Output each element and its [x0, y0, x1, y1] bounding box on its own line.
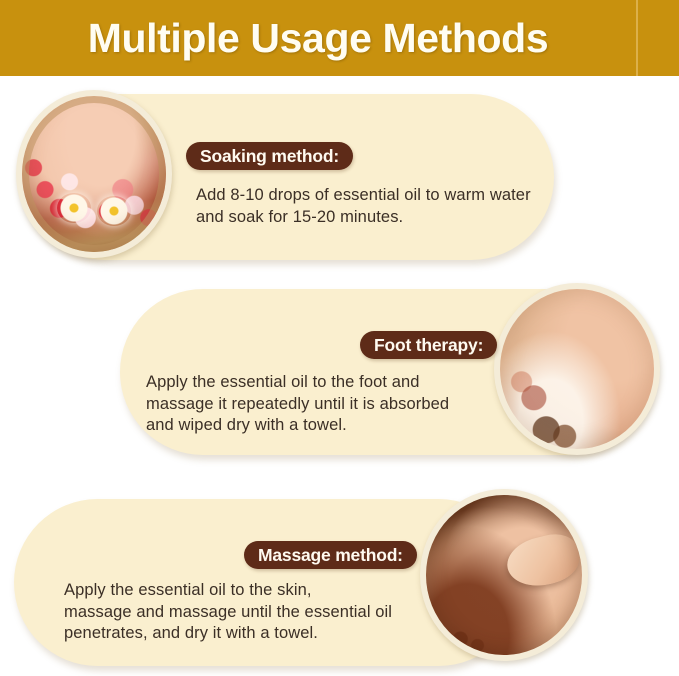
- header-banner: Multiple Usage Methods: [0, 0, 679, 76]
- card-photo-frame: [494, 283, 660, 455]
- method-description-soaking: Add 8-10 drops of essential oil to warm …: [196, 185, 586, 228]
- usage-method-card-soaking: Soaking method: Add 8-10 drops of essent…: [0, 84, 679, 269]
- card-photo-frame: [420, 489, 588, 661]
- card-photo-frame: [16, 90, 172, 258]
- method-label-foot-therapy: Foot therapy:: [360, 331, 497, 359]
- foot-reflexology-photo: [500, 289, 654, 449]
- header-divider: [636, 0, 638, 76]
- method-label-massage: Massage method:: [244, 541, 417, 569]
- page-title: Multiple Usage Methods: [0, 0, 636, 76]
- usage-method-card-foot-therapy: Foot therapy: Apply the essential oil to…: [0, 279, 679, 465]
- photo-inner-shading: [500, 289, 654, 449]
- photo-inner-shading: [426, 495, 582, 655]
- method-description-massage: Apply the essential oil to the skin, mas…: [64, 580, 414, 645]
- usage-method-card-massage: Massage method: Apply the essential oil …: [0, 487, 679, 676]
- method-description-foot-therapy: Apply the essential oil to the foot and …: [146, 372, 496, 437]
- foot-soak-photo: [22, 96, 166, 252]
- method-label-soaking: Soaking method:: [186, 142, 353, 170]
- basin-rim: [22, 96, 166, 252]
- back-massage-photo: [426, 495, 582, 655]
